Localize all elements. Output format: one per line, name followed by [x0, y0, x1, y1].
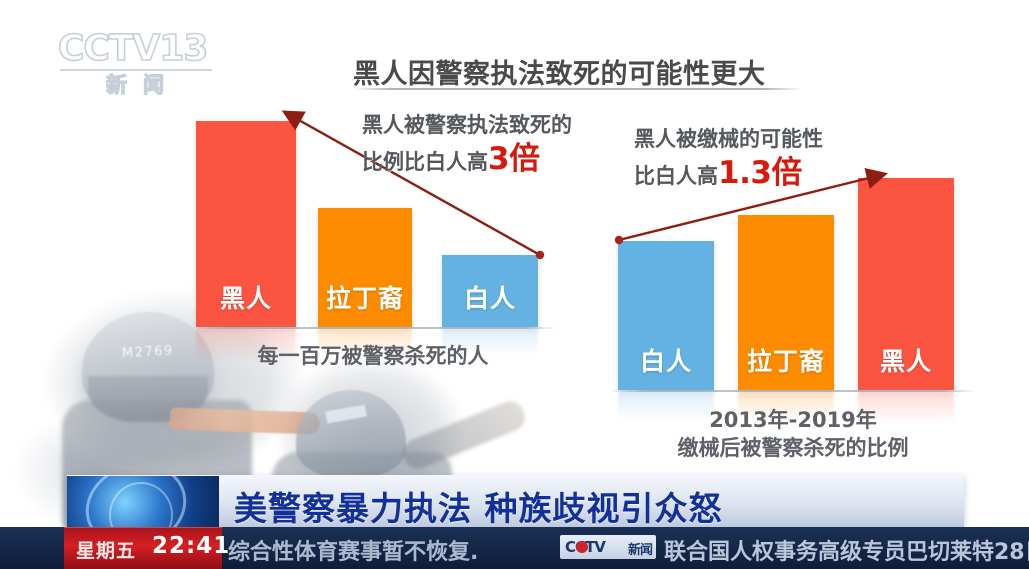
banner-headline: 美警察暴力执法 种族歧视引众怒 [234, 482, 723, 528]
right-chart-caption-line2: 缴械后被警察杀死的比例 [608, 432, 978, 462]
cctv-logo-wordmark: CCTV13 [58, 30, 218, 68]
right-chart-caption-line1: 2013年-2019年 [608, 404, 978, 434]
lower-third-banner: 美警察暴力执法 种族歧视引众怒 [67, 475, 964, 528]
right-bar-black-label: 黑人 [858, 342, 954, 378]
cctv-logo-letters: CCTV [58, 28, 159, 69]
ticker-text-right: 联合国人权事务高级专员巴切莱特28日 [664, 534, 1029, 566]
ticker-logo-news-text: 新闻 [628, 539, 652, 558]
ticker-logo-dot-icon [576, 541, 588, 553]
left-bar-black-label: 黑人 [196, 279, 296, 315]
right-bar-latino-label: 拉丁裔 [738, 342, 834, 378]
news-ticker-bar: 星期五 22:41 综合性体育赛事暂不恢复. CCTV 新闻 联合国人权事务高级… [0, 527, 1029, 569]
title-underline [355, 88, 800, 90]
cctv-logo-rule [60, 69, 212, 71]
left-bar-latino-label: 拉丁裔 [318, 279, 412, 315]
right-annotation-prefix: 比白人高 [634, 164, 718, 188]
right-annotation-highlight: 1.3倍 [718, 155, 802, 191]
cctv-logo-news-label: 新闻 [58, 73, 218, 97]
right-bar-white: 白人 [618, 241, 714, 390]
page-title: 黑人因警察执法致死的可能性更大 [353, 52, 766, 91]
left-annotation-highlight: 3倍 [488, 141, 540, 177]
helmet-id-tag: M2769 [122, 344, 175, 362]
right-annotation-line1: 黑人被缴械的可能性 [634, 122, 823, 156]
ticker-weekday: 星期五 [76, 536, 136, 563]
right-annotation: 黑人被缴械的可能性 比白人高1.3倍 [634, 122, 823, 193]
globe-graphic-icon [67, 476, 219, 528]
left-annotation-line1: 黑人被警察执法致死的 [362, 108, 572, 142]
right-bar-white-label: 白人 [618, 342, 714, 378]
cctv13-logo: CCTV13 新闻 [58, 30, 218, 92]
ticker-time: 22:41 [152, 533, 230, 559]
cctv-logo-channel-number: 13 [159, 28, 207, 69]
ticker-cctv-news-logo-icon: CCTV 新闻 [560, 535, 656, 559]
left-annotation-line2: 比例比白人高3倍 [362, 142, 572, 179]
left-annotation: 黑人被警察执法致死的 比例比白人高3倍 [362, 108, 572, 179]
left-bar-white-label: 白人 [442, 279, 538, 315]
right-annotation-line2: 比白人高1.3倍 [634, 156, 823, 193]
broadcast-screen: M2769 CCTV13 新闻 黑人因警察执法致死的可能性更大 黑人 拉丁裔 白… [0, 0, 1029, 569]
left-chart-caption: 每一百万被警察杀死的人 [188, 340, 558, 370]
ticker-text-left: 综合性体育赛事暂不恢复. [228, 534, 478, 566]
ticker-clock-block: 星期五 22:41 [64, 527, 222, 569]
left-annotation-prefix: 比例比白人高 [362, 150, 488, 174]
